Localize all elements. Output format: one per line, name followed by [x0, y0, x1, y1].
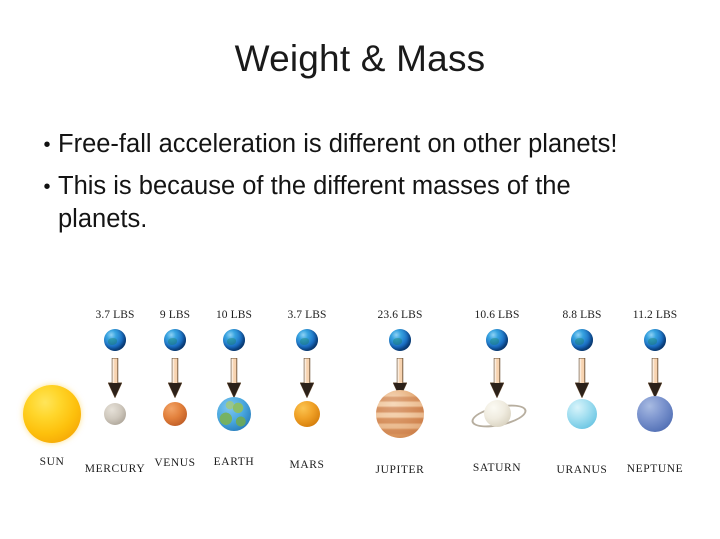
bullet-text-2: This is because of the different masses …: [58, 170, 648, 236]
weight-label-jupiter: 23.6 LBS: [345, 309, 455, 321]
earth-globe-icon: [389, 329, 411, 351]
bullet-marker-icon: •: [36, 170, 58, 204]
page-title: Weight & Mass: [0, 38, 720, 80]
planet-body-neptune: [637, 396, 673, 432]
bullet-item-2: • This is because of the different masse…: [36, 170, 696, 236]
down-arrow-icon: [300, 358, 314, 398]
planet-body-mars: [294, 401, 320, 427]
saturn-sphere: [484, 400, 511, 427]
planet-body-jupiter: [376, 390, 424, 438]
weight-label-neptune: 11.2 LBS: [600, 309, 710, 321]
bullet-list: • Free-fall acceleration is different on…: [36, 128, 696, 244]
bullet-marker-icon: •: [36, 128, 58, 162]
earth-globe-icon: [223, 329, 245, 351]
earth-globe-icon: [296, 329, 318, 351]
planet-body-saturn: [471, 397, 523, 431]
down-arrow-icon: [490, 358, 504, 398]
down-arrow-icon: [227, 358, 241, 398]
down-arrow-icon: [648, 358, 662, 398]
bullet-text-1: Free-fall acceleration is different on o…: [58, 128, 648, 161]
solar-system-weight-diagram: SUN3.7 LBSMERCURY9 LBSVENUS10 LBSEARTH3.…: [0, 296, 720, 496]
planet-name-jupiter: JUPITER: [345, 464, 455, 476]
planet-body-uranus: [567, 399, 597, 429]
planet-body-earth: [217, 397, 251, 431]
down-arrow-icon: [575, 358, 589, 398]
planet-column-neptune: 11.2 LBSNEPTUNE: [600, 296, 710, 496]
planet-column-jupiter: 23.6 LBSJUPITER: [345, 296, 455, 496]
earth-globe-icon: [644, 329, 666, 351]
planet-name-neptune: NEPTUNE: [600, 463, 710, 475]
earth-globe-icon: [571, 329, 593, 351]
bullet-item-1: • Free-fall acceleration is different on…: [36, 128, 696, 162]
earth-globe-icon: [486, 329, 508, 351]
